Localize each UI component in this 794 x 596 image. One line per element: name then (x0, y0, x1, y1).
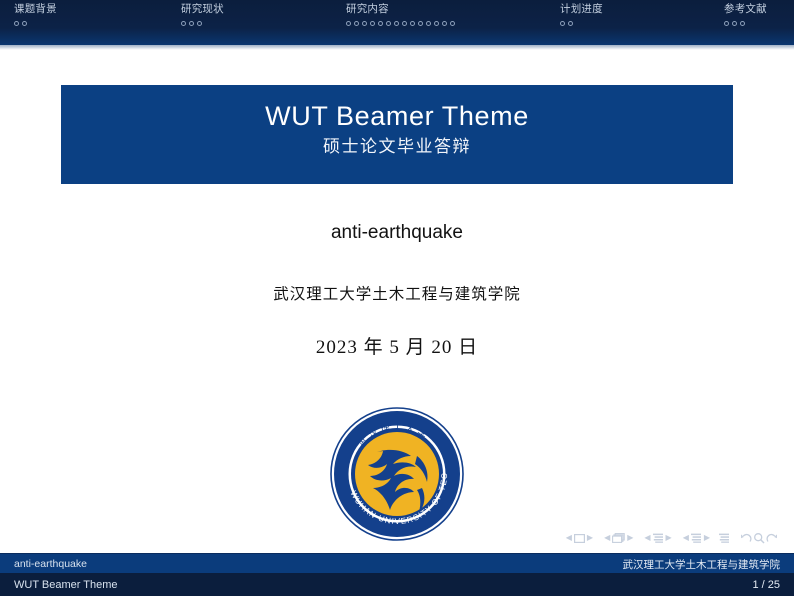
nav-dot[interactable] (418, 21, 423, 26)
nav-dot[interactable] (568, 21, 573, 26)
subsection-navigation-group[interactable]: ◀ ▶ (642, 533, 673, 543)
nav-dot[interactable] (442, 21, 447, 26)
nav-dot[interactable] (14, 21, 19, 26)
nav-dot[interactable] (378, 21, 383, 26)
footer-top-row: anti-earthquake 武汉理工大学土木工程与建筑学院 (0, 553, 794, 574)
nav-dot[interactable] (560, 21, 565, 26)
nav-dot[interactable] (434, 21, 439, 26)
nav-dot[interactable] (197, 21, 202, 26)
beamer-navigation-symbols[interactable]: ◀ ▶ ◀ ▶ ◀ ▶ ◀ (564, 529, 778, 547)
nav-dot[interactable] (394, 21, 399, 26)
next-subsection-icon[interactable]: ▶ (664, 534, 674, 542)
navigation-header: 课题背景 研究现状 研究内容 计划进度 参考文献 (0, 0, 794, 45)
nav-section-dots[interactable] (560, 17, 603, 26)
section-navigation: 课题背景 研究现状 研究内容 计划进度 参考文献 (0, 0, 794, 30)
wut-logo-icon: 武汉理工大学 WUHAN UNIVERSITY OF TECHNOLOGY (327, 404, 467, 544)
nav-dot[interactable] (346, 21, 351, 26)
page-subtitle: 硕士论文毕业答辩 (61, 133, 733, 161)
nav-section-yanjiuneirong[interactable]: 研究内容 (346, 3, 458, 26)
nav-dot[interactable] (450, 21, 455, 26)
nav-dot[interactable] (724, 21, 729, 26)
previous-subsection-icon[interactable]: ◀ (642, 534, 652, 542)
nav-section-dots[interactable] (181, 17, 224, 26)
nav-section-cankaowenxian[interactable]: 参考文献 (724, 3, 767, 26)
nav-dot[interactable] (362, 21, 367, 26)
header-separator (0, 45, 794, 50)
previous-frame-icon[interactable]: ◀ (602, 534, 612, 542)
frame-navigation-group[interactable]: ◀ ▶ (602, 533, 635, 543)
frame-icon[interactable] (612, 533, 625, 543)
search-icon[interactable] (753, 532, 765, 544)
back-arrow-icon[interactable] (740, 532, 752, 544)
nav-section-label: 研究内容 (346, 3, 458, 15)
title-block: WUT Beamer Theme 硕士论文毕业答辩 (61, 85, 733, 182)
footer-title: WUT Beamer Theme (14, 573, 118, 596)
nav-section-dots[interactable] (14, 17, 57, 26)
author-name: anti-earthquake (0, 222, 794, 244)
nav-dot[interactable] (370, 21, 375, 26)
previous-section-icon[interactable]: ◀ (681, 534, 691, 542)
presentation-icon[interactable] (719, 533, 730, 543)
section-navigation-group[interactable]: ◀ ▶ (681, 533, 712, 543)
nav-dot[interactable] (402, 21, 407, 26)
presentation-date: 2023 年 5 月 20 日 (0, 332, 794, 359)
nav-section-dots[interactable] (346, 17, 458, 26)
nav-section-ketibeijing[interactable]: 课题背景 (14, 3, 57, 26)
nav-dot[interactable] (189, 21, 194, 26)
footer-author: anti-earthquake (14, 554, 87, 574)
nav-section-label: 研究现状 (181, 3, 224, 15)
next-section-icon[interactable]: ▶ (702, 534, 712, 542)
institute-name: 武汉理工大学土木工程与建筑学院 (0, 282, 794, 304)
nav-dot[interactable] (181, 21, 186, 26)
nav-section-label: 参考文献 (724, 3, 767, 15)
slide-icon[interactable] (574, 534, 585, 543)
subsection-icon[interactable] (653, 533, 664, 543)
next-frame-icon[interactable]: ▶ (625, 534, 635, 542)
nav-dot[interactable] (386, 21, 391, 26)
next-slide-icon[interactable]: ▶ (585, 534, 595, 542)
page-title: WUT Beamer Theme (61, 99, 733, 133)
nav-section-label: 计划进度 (560, 3, 603, 15)
nav-dot[interactable] (354, 21, 359, 26)
forward-arrow-icon[interactable] (766, 532, 778, 544)
footer-bottom-row: WUT Beamer Theme 1 / 25 (0, 573, 794, 596)
nav-dot[interactable] (426, 21, 431, 26)
nav-section-dots[interactable] (724, 17, 767, 26)
slide-navigation-group[interactable]: ◀ ▶ (564, 534, 595, 543)
nav-section-jihuajindu[interactable]: 计划进度 (560, 3, 603, 26)
nav-dot[interactable] (732, 21, 737, 26)
nav-section-yanjiuxianzhuang[interactable]: 研究现状 (181, 3, 224, 26)
previous-slide-icon[interactable]: ◀ (564, 534, 574, 542)
footer-institute: 武汉理工大学土木工程与建筑学院 (623, 554, 781, 574)
nav-dot[interactable] (740, 21, 745, 26)
nav-dot[interactable] (410, 21, 415, 26)
university-logo: 武汉理工大学 WUHAN UNIVERSITY OF TECHNOLOGY (327, 404, 467, 544)
section-icon[interactable] (691, 533, 702, 543)
footer-page-number: 1 / 25 (752, 573, 780, 596)
nav-dot[interactable] (22, 21, 27, 26)
nav-section-label: 课题背景 (14, 3, 57, 15)
